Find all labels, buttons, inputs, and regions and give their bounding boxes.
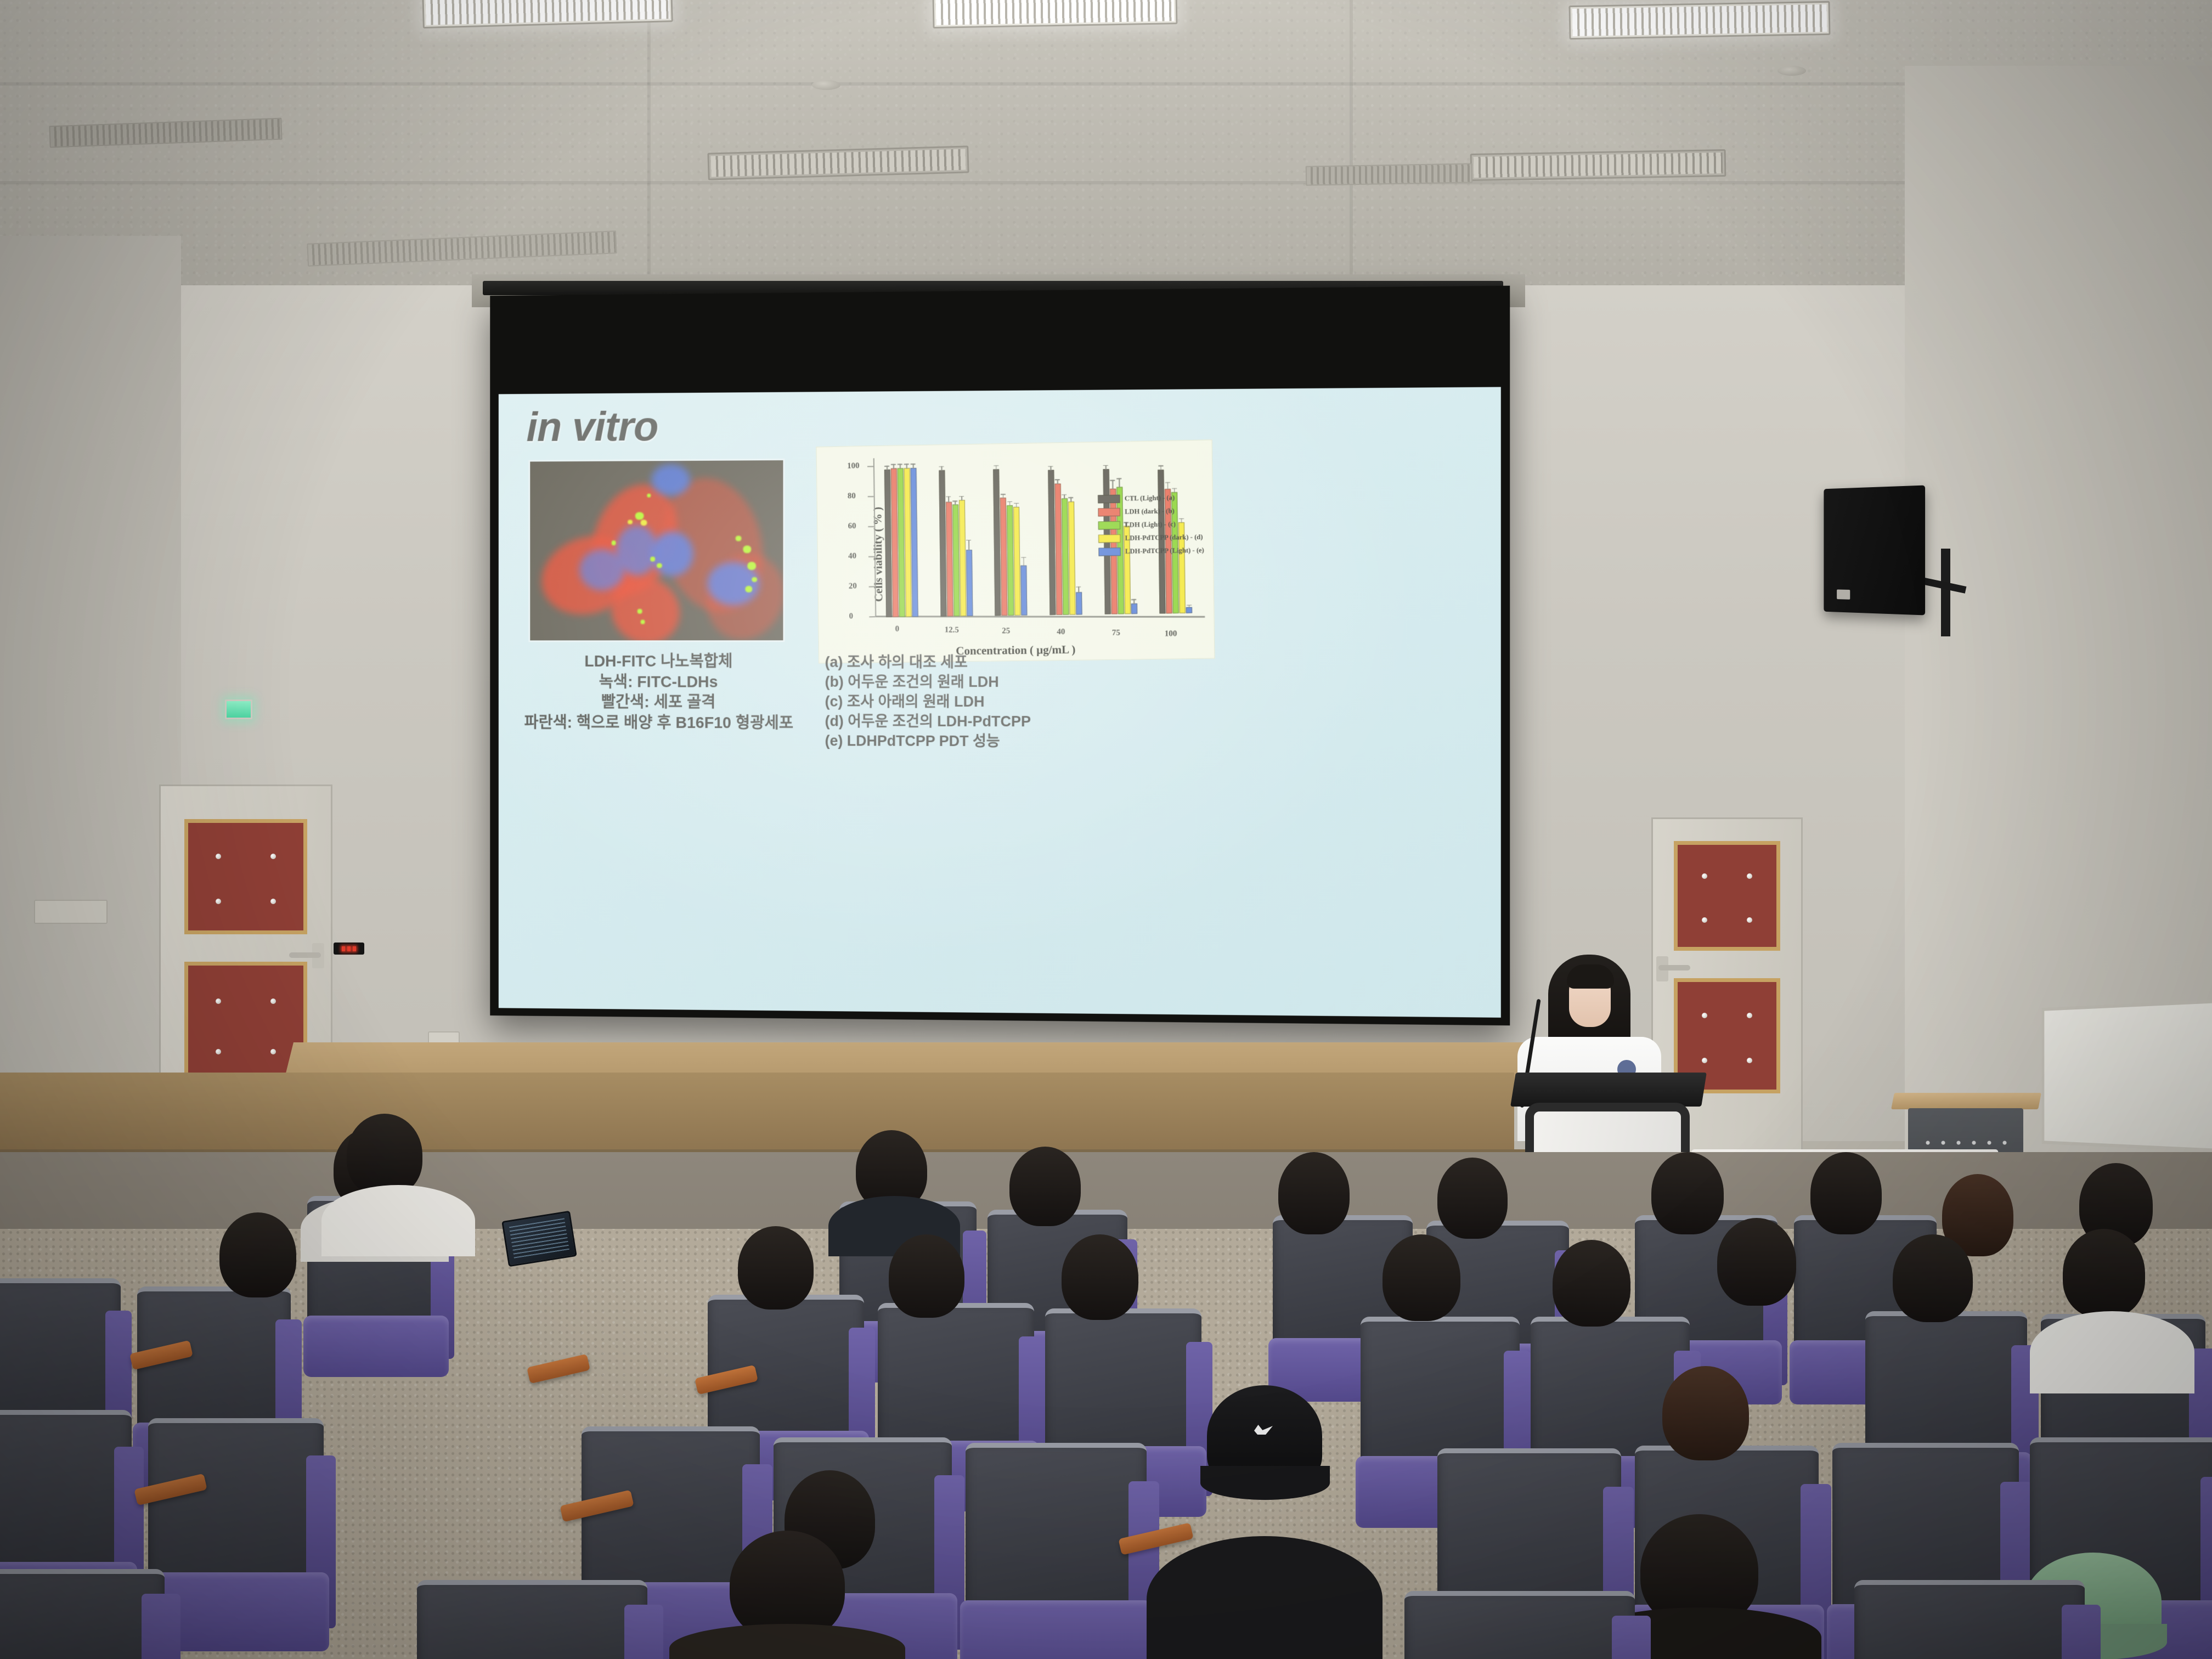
ceiling-beam [0, 181, 2212, 184]
chart-error-bar [948, 496, 949, 503]
audience-head [1009, 1147, 1081, 1226]
chart-legend-swatch [1098, 534, 1120, 543]
seat[interactable] [417, 1580, 647, 1659]
chart-bar [1021, 566, 1028, 616]
chart-y-tick [869, 586, 875, 587]
caption-line: (e) LDHPdTCPP PDT 성능 [825, 731, 1209, 752]
chart-x-tick-label: 25 [1002, 627, 1010, 636]
audience-head [1810, 1152, 1882, 1234]
chart-error-bar [1119, 478, 1120, 488]
chart-legend-label: LDH-PdTCPP (dark) - (d) [1125, 533, 1203, 543]
ceiling-light [1568, 1, 1830, 39]
chart-error-bar [941, 466, 943, 471]
door-handle-icon[interactable] [289, 952, 321, 958]
ceiling-beam [1350, 0, 1353, 307]
chart-error-bar [1160, 465, 1161, 470]
audience-head [1893, 1234, 1973, 1322]
chart-y-tick-label: 80 [848, 492, 856, 501]
chart-error-bar [1064, 494, 1065, 499]
whiteboard [2041, 1000, 2212, 1152]
chart-x-tick-label: 40 [1057, 628, 1065, 637]
chart-legend: CTL (Light) - (a)LDH (dark) - (b)LDH (Li… [1098, 493, 1204, 561]
audience-head [1553, 1240, 1630, 1327]
chart-x-tick-label: 12.5 [944, 625, 958, 635]
chart-legend-swatch [1098, 495, 1120, 504]
chart-error-bar [961, 496, 962, 500]
audience-shoulders [2030, 1311, 2194, 1393]
seat[interactable] [0, 1569, 165, 1659]
slide-title: in vitro [526, 403, 658, 451]
ceiling-beam [647, 0, 651, 307]
projection-screen: in vitro [490, 286, 1510, 1026]
chart-y-tick-label: 100 [847, 461, 860, 471]
wall-switch-panel[interactable] [34, 900, 108, 924]
chart-error-bar [906, 464, 907, 468]
chart-bar [1186, 607, 1192, 613]
chart-bar [1013, 507, 1020, 616]
chart-error-bar [1023, 557, 1024, 566]
smoke-detector-icon [1778, 66, 1806, 76]
chart-error-bar [955, 501, 956, 505]
chart-error-bar [1112, 480, 1113, 489]
red-led-display [334, 943, 364, 955]
cap-brim [1200, 1466, 1330, 1500]
chart-x-tick-label: 100 [1165, 629, 1177, 639]
chart-bar-group [993, 469, 1027, 616]
chart-bar [966, 550, 973, 616]
chart-error-bar [1009, 501, 1011, 506]
side-cart-top [1891, 1093, 2041, 1109]
speaker-brand-logo [1837, 589, 1850, 599]
audience-head [1437, 1158, 1508, 1239]
audience-head [1651, 1152, 1724, 1234]
chart-error-bar [893, 464, 894, 469]
slide-right-caption: (a) 조사 하의 대조 세포(b) 어두운 조건의 원래 LDH(c) 조사 … [825, 653, 1209, 752]
door-handle-icon[interactable] [1658, 965, 1690, 970]
seat[interactable] [1404, 1591, 1635, 1659]
chart-legend-item: LDH (dark) - (b) [1098, 506, 1204, 516]
chart-error-bar [1003, 494, 1004, 498]
chart-legend-item: LDH-PdTCPP (dark) - (d) [1098, 533, 1204, 543]
chart-y-tick [868, 526, 874, 527]
fluorescence-micrograph [528, 459, 785, 642]
chart-bar-group [939, 470, 973, 617]
audience-head [1717, 1218, 1796, 1306]
chart-error-bar [1079, 586, 1080, 592]
chart-error-bar [1105, 465, 1107, 469]
chart-y-tick-label: 0 [849, 612, 854, 621]
audience-head [2063, 1229, 2145, 1318]
chart-y-tick [869, 616, 875, 617]
chart-legend-label: CTL (Light) - (a) [1125, 494, 1175, 503]
chart-error-bar [900, 464, 901, 469]
caption-line: LDH-FITC 나노복합체 [508, 652, 810, 673]
audience-head [1278, 1152, 1350, 1234]
chart-bar-group [1048, 470, 1082, 616]
caption-line: (b) 어두운 조건의 원래 LDH [825, 673, 1209, 692]
caption-line: 빨간색: 세포 골격 [508, 692, 810, 713]
slide-left-caption: LDH-FITC 나노복합체녹색: FITC-LDHs빨간색: 세포 골격파란색… [508, 652, 810, 734]
chart-bar [939, 470, 946, 617]
caption-line: (a) 조사 하의 대조 세포 [825, 653, 1209, 673]
chart-error-bar [1189, 605, 1190, 608]
chart-y-tick-label: 60 [848, 522, 856, 531]
chart-y-tick [867, 466, 873, 467]
lectern-top [1510, 1073, 1707, 1107]
cell-viability-bar-chart: Cells viability ( % ) Concentration ( μg… [816, 439, 1215, 663]
caption-line: (c) 조사 아래의 원래 LDH [825, 692, 1209, 713]
audience-head [889, 1234, 964, 1318]
chart-y-tick-label: 40 [848, 552, 856, 561]
chart-bar [959, 500, 967, 616]
chart-legend-swatch [1098, 521, 1120, 530]
chart-legend-item: LDH (Light) - (c) [1098, 520, 1204, 529]
seat[interactable] [966, 1443, 1147, 1659]
audience-head [1383, 1234, 1460, 1321]
ceiling-beam [0, 82, 2212, 86]
caption-line: 녹색: FITC-LDHs [508, 672, 810, 693]
chart-legend-item: CTL (Light) - (a) [1098, 493, 1203, 503]
chart-y-tick [868, 496, 874, 497]
stage-platform-front [0, 1073, 1514, 1155]
chart-error-bar [996, 465, 997, 470]
smoke-detector-icon [812, 80, 840, 90]
chart-error-bar [887, 466, 888, 470]
lecture-hall-photo: in vitro [0, 0, 2212, 1659]
audience-head [219, 1212, 296, 1297]
wall-speaker [1824, 486, 1925, 616]
chart-legend-label: LDH (Light) - (c) [1125, 520, 1176, 529]
chart-bar [1131, 603, 1137, 614]
ceiling-light [1470, 149, 1726, 181]
audience-head [1062, 1234, 1138, 1320]
chart-bar [993, 469, 1001, 616]
audience-shoulders [1147, 1536, 1383, 1659]
ceiling-light [933, 0, 1178, 29]
chart-legend-item: LDH-PdTCPP (Light) - (e) [1099, 546, 1204, 556]
chart-error-bar [1167, 482, 1169, 490]
chart-legend-label: LDH (dark) - (b) [1125, 507, 1175, 516]
chart-y-tick-label: 20 [849, 582, 857, 591]
chart-bar [910, 467, 918, 617]
caption-line: 파란색: 핵으로 배양 후 B16F10 형광세포 [508, 713, 810, 734]
ceiling-vent [1306, 163, 1473, 185]
chart-error-bar [913, 464, 914, 468]
chart-bar [1076, 592, 1082, 615]
chart-legend-label: LDH-PdTCPP (Light) - (e) [1125, 546, 1204, 556]
chart-legend-swatch [1098, 508, 1120, 517]
chart-legend-swatch [1099, 548, 1121, 556]
chart-error-bar [1016, 503, 1017, 507]
presenter-fringe [1567, 964, 1614, 989]
chart-y-tick [868, 556, 874, 557]
cap-logo-icon [1254, 1425, 1273, 1435]
chart-error-bar [1071, 497, 1072, 501]
chart-error-bar [1051, 466, 1052, 470]
door-panel [1674, 841, 1780, 951]
seat[interactable] [1854, 1580, 2085, 1659]
chart-error-bar [1133, 599, 1135, 603]
audience-shoulders [321, 1185, 475, 1256]
audience-head [738, 1226, 814, 1310]
caption-line: (d) 어두운 조건의 LDH-PdTCPP [825, 712, 1209, 732]
audience-head [1662, 1366, 1749, 1460]
door-panel [184, 819, 307, 934]
chart-error-bar [968, 540, 969, 550]
chart-bar-group [884, 467, 918, 617]
chart-bar [1068, 501, 1076, 615]
audience-head-with-tablet [347, 1114, 422, 1196]
speaker-mount-post [1941, 549, 1950, 636]
left-wall [0, 236, 181, 1180]
chart-x-tick-label: 0 [895, 625, 899, 634]
chart-error-bar [1057, 479, 1058, 484]
presentation-slide: in vitro [499, 387, 1501, 1018]
exit-sign-icon [225, 699, 252, 719]
chart-error-bar [1174, 488, 1175, 493]
chart-x-tick-label: 75 [1111, 629, 1120, 638]
